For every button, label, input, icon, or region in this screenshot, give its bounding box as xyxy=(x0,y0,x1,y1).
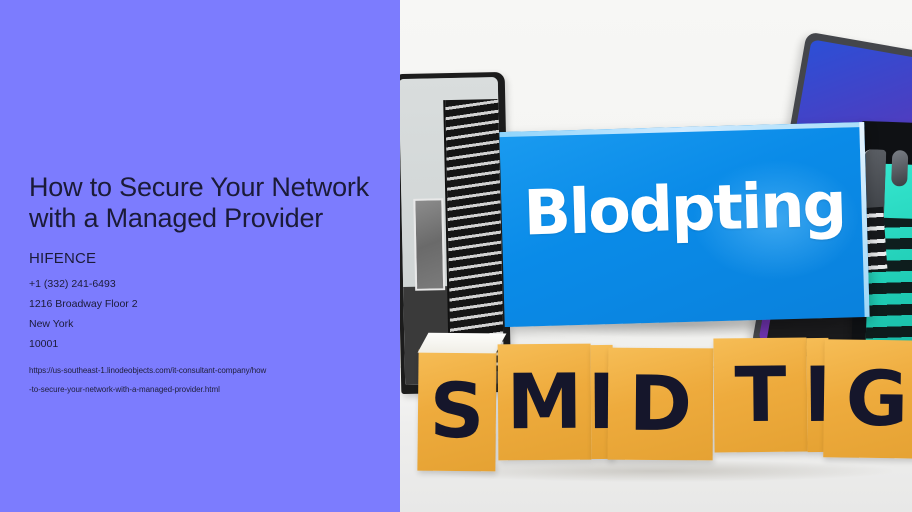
left-tablet-poster xyxy=(413,198,445,291)
text-stack: How to Secure Your Network with a Manage… xyxy=(29,172,391,399)
screenshot-canvas: How to Secure Your Network with a Manage… xyxy=(0,0,912,512)
hero-photo: Blodpting S M I D T I xyxy=(400,0,912,512)
article-url-line-2[interactable]: -to-secure-your-network-with-a-managed-p… xyxy=(29,380,391,399)
letter-blocks-row: S M I D T I G xyxy=(418,338,912,483)
article-url-line-1[interactable]: https://us-southeast-1.linodeobjects.com… xyxy=(29,361,391,380)
article-url[interactable]: https://us-southeast-1.linodeobjects.com… xyxy=(29,361,391,399)
letter-block-glyph: G xyxy=(823,339,912,458)
letter-block-glyph: M xyxy=(498,344,592,461)
teal-device-lens xyxy=(891,150,908,187)
letter-block-glyph: T xyxy=(713,338,807,453)
blue-sign-text: Blodpting xyxy=(523,170,855,247)
letter-block: D xyxy=(608,348,714,461)
letter-block: T xyxy=(713,338,807,453)
blue-sign: Blodpting xyxy=(499,122,869,327)
left-tablet-louver-blinds xyxy=(443,99,504,372)
contact-city: New York xyxy=(29,314,391,334)
company-name: HIFENCE xyxy=(29,250,391,268)
contact-zip: 10001 xyxy=(29,334,391,354)
left-info-panel: How to Secure Your Network with a Manage… xyxy=(0,0,400,512)
letter-block-glyph: S xyxy=(417,350,496,472)
letter-block: G xyxy=(823,339,912,458)
contact-street: 1216 Broadway Floor 2 xyxy=(29,294,391,314)
contact-phone: +1 (332) 241-6493 xyxy=(29,274,391,294)
letter-block: M xyxy=(498,344,592,461)
letter-block-glyph: D xyxy=(608,348,714,461)
page-title: How to Secure Your Network with a Manage… xyxy=(29,172,391,234)
letter-block: S xyxy=(417,350,496,472)
contact-block: +1 (332) 241-6493 1216 Broadway Floor 2 … xyxy=(29,274,391,354)
